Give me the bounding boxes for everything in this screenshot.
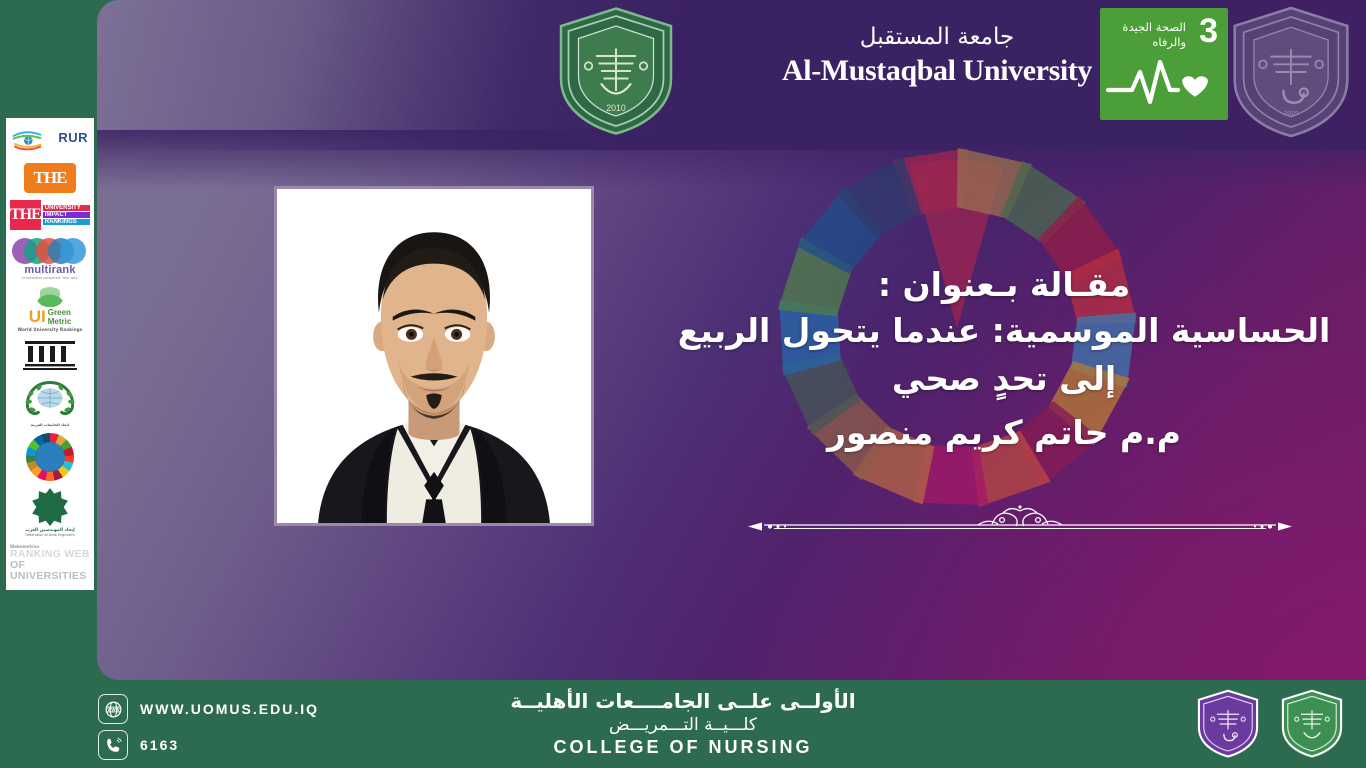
author-name: م.م حاتم كريم منصور [664, 407, 1344, 459]
arab-universities-caption: اتحاد الجامعات العربية [17, 423, 83, 427]
greenmetric-caption: World University Rankings [10, 327, 90, 332]
rur-label: RUR [58, 130, 88, 145]
page-footer: WWW WWW.UOMUS.EDU.IQ 6163 الأولــى علــى… [0, 680, 1366, 768]
footer-college-block: الأولــى علــى الجامــــعات الأهليــة كل… [0, 688, 1366, 758]
impact-line-3: RANKINGS [43, 219, 90, 225]
footer-college-ar: كلـــيــة التـــمريـــض [0, 714, 1366, 736]
sidebar-item-webometrics: Webometrics RANKING WEB OF UNIVERSITIES [10, 544, 90, 582]
sdg-3-badge: 3 الصحة الجيدة والرفاه [1100, 8, 1228, 120]
impact-line-2: IMPACT [43, 212, 90, 218]
sidebar-item-sdg-wheel [10, 433, 90, 481]
sidebar-item-multirank: multirank Universities compared. Your wa… [10, 236, 90, 280]
greenmetric-metric: Metric [48, 317, 72, 326]
the-impact-mark: THE [10, 200, 41, 230]
svg-text:2010: 2010 [1284, 111, 1299, 118]
svg-text:2010: 2010 [606, 103, 626, 113]
sdg-wheel-icon [26, 433, 74, 481]
wreath-icon [18, 378, 82, 418]
sidebar-item-ui-greenmetric: UI Green Metric World University Ranking… [10, 287, 90, 332]
college-of-nursing-seal: 2010 [1227, 4, 1355, 140]
al-mustaqbal-university-seal: 2010 [552, 6, 680, 136]
university-name-en: Al-Mustaqbal University [737, 54, 1137, 88]
arab-engineers-caption-en: Federation of Arab Engineers [18, 533, 82, 537]
university-title: جامعة المستقبل Al-Mustaqbal University [737, 22, 1137, 88]
title-line-1: مقـالة بـعنوان : [664, 263, 1344, 307]
rankings-sidebar: RUR THE THE UNIVERSITY IMPACT RANKINGS [6, 118, 94, 590]
heartbeat-icon [1100, 52, 1228, 112]
multirank-sub: Universities compared. Your way. [10, 276, 90, 280]
sidebar-item-arab-universities-union: اتحاد الجامعات العربية [10, 378, 90, 427]
sidebar-item-temple-ranking [10, 339, 90, 371]
greenmetric-ui: UI [29, 307, 46, 327]
speaker-portrait-photo [274, 186, 594, 526]
footer-college-en: COLLEGE OF NURSING [0, 736, 1366, 758]
sidebar-item-arab-engineers: إتحاد المهندسين العرب Federation of Arab… [10, 488, 90, 537]
temple-columns-icon [23, 339, 77, 371]
article-title-block: مقـالة بـعنوان : الحساسية الموسمية: عندم… [664, 263, 1344, 459]
ornamental-divider [730, 498, 1310, 540]
the-label: THE [34, 168, 67, 188]
title-line-2: الحساسية الموسمية: عندما يتحول الربيع [664, 307, 1344, 355]
arab-engineers-emblem [31, 488, 69, 526]
al-mustaqbal-university-shield [1192, 688, 1264, 760]
sidebar-item-the-impact-rankings: THE UNIVERSITY IMPACT RANKINGS [10, 200, 90, 230]
sidebar-item-rur: RUR [10, 124, 90, 156]
title-line-3: إلى تحدٍ صحي [664, 355, 1344, 403]
sdg-3-number: 3 [1199, 14, 1218, 48]
sdg-3-label: الصحة الجيدة والرفاه [1112, 20, 1186, 50]
slide-root: 2010 جامعة المستقبل Al-Mustaqbal Univers… [0, 0, 1366, 768]
impact-line-1: UNIVERSITY [43, 205, 90, 211]
footer-logos [1192, 688, 1348, 760]
main-content-panel: 2010 جامعة المستقبل Al-Mustaqbal Univers… [97, 0, 1366, 680]
footer-tagline-ar: الأولــى علــى الجامــــعات الأهليــة [0, 688, 1366, 714]
college-of-nursing-shield [1276, 688, 1348, 760]
sidebar-item-the: THE [10, 163, 90, 193]
webometrics-line-2: OF UNIVERSITIES [10, 560, 90, 582]
greenmetric-green: Green [48, 308, 72, 317]
greenmetric-leaf-icon [37, 287, 63, 307]
university-name-ar: جامعة المستقبل [737, 22, 1137, 52]
